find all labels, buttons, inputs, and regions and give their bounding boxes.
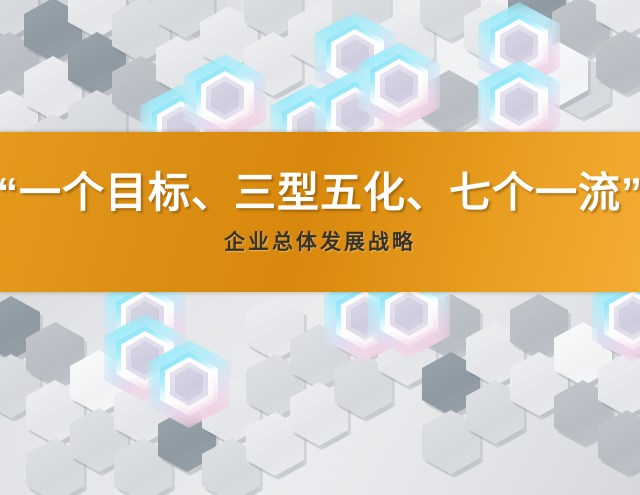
glowing-hexagon [604,286,640,350]
glowing-hexagon [196,66,254,130]
page-title: “一个目标、三型五化、七个一流” [0,170,640,216]
title-banner: “一个目标、三型五化、七个一流” 企业总体发展战略 [0,132,640,292]
glowing-hexagon [490,72,548,136]
glowing-hexagon [370,54,428,118]
slide-canvas: “一个目标、三型五化、七个一流” 企业总体发展战略 [0,0,640,495]
page-subtitle: 企业总体发展战略 [224,231,416,254]
glowing-hexagon [160,352,218,416]
